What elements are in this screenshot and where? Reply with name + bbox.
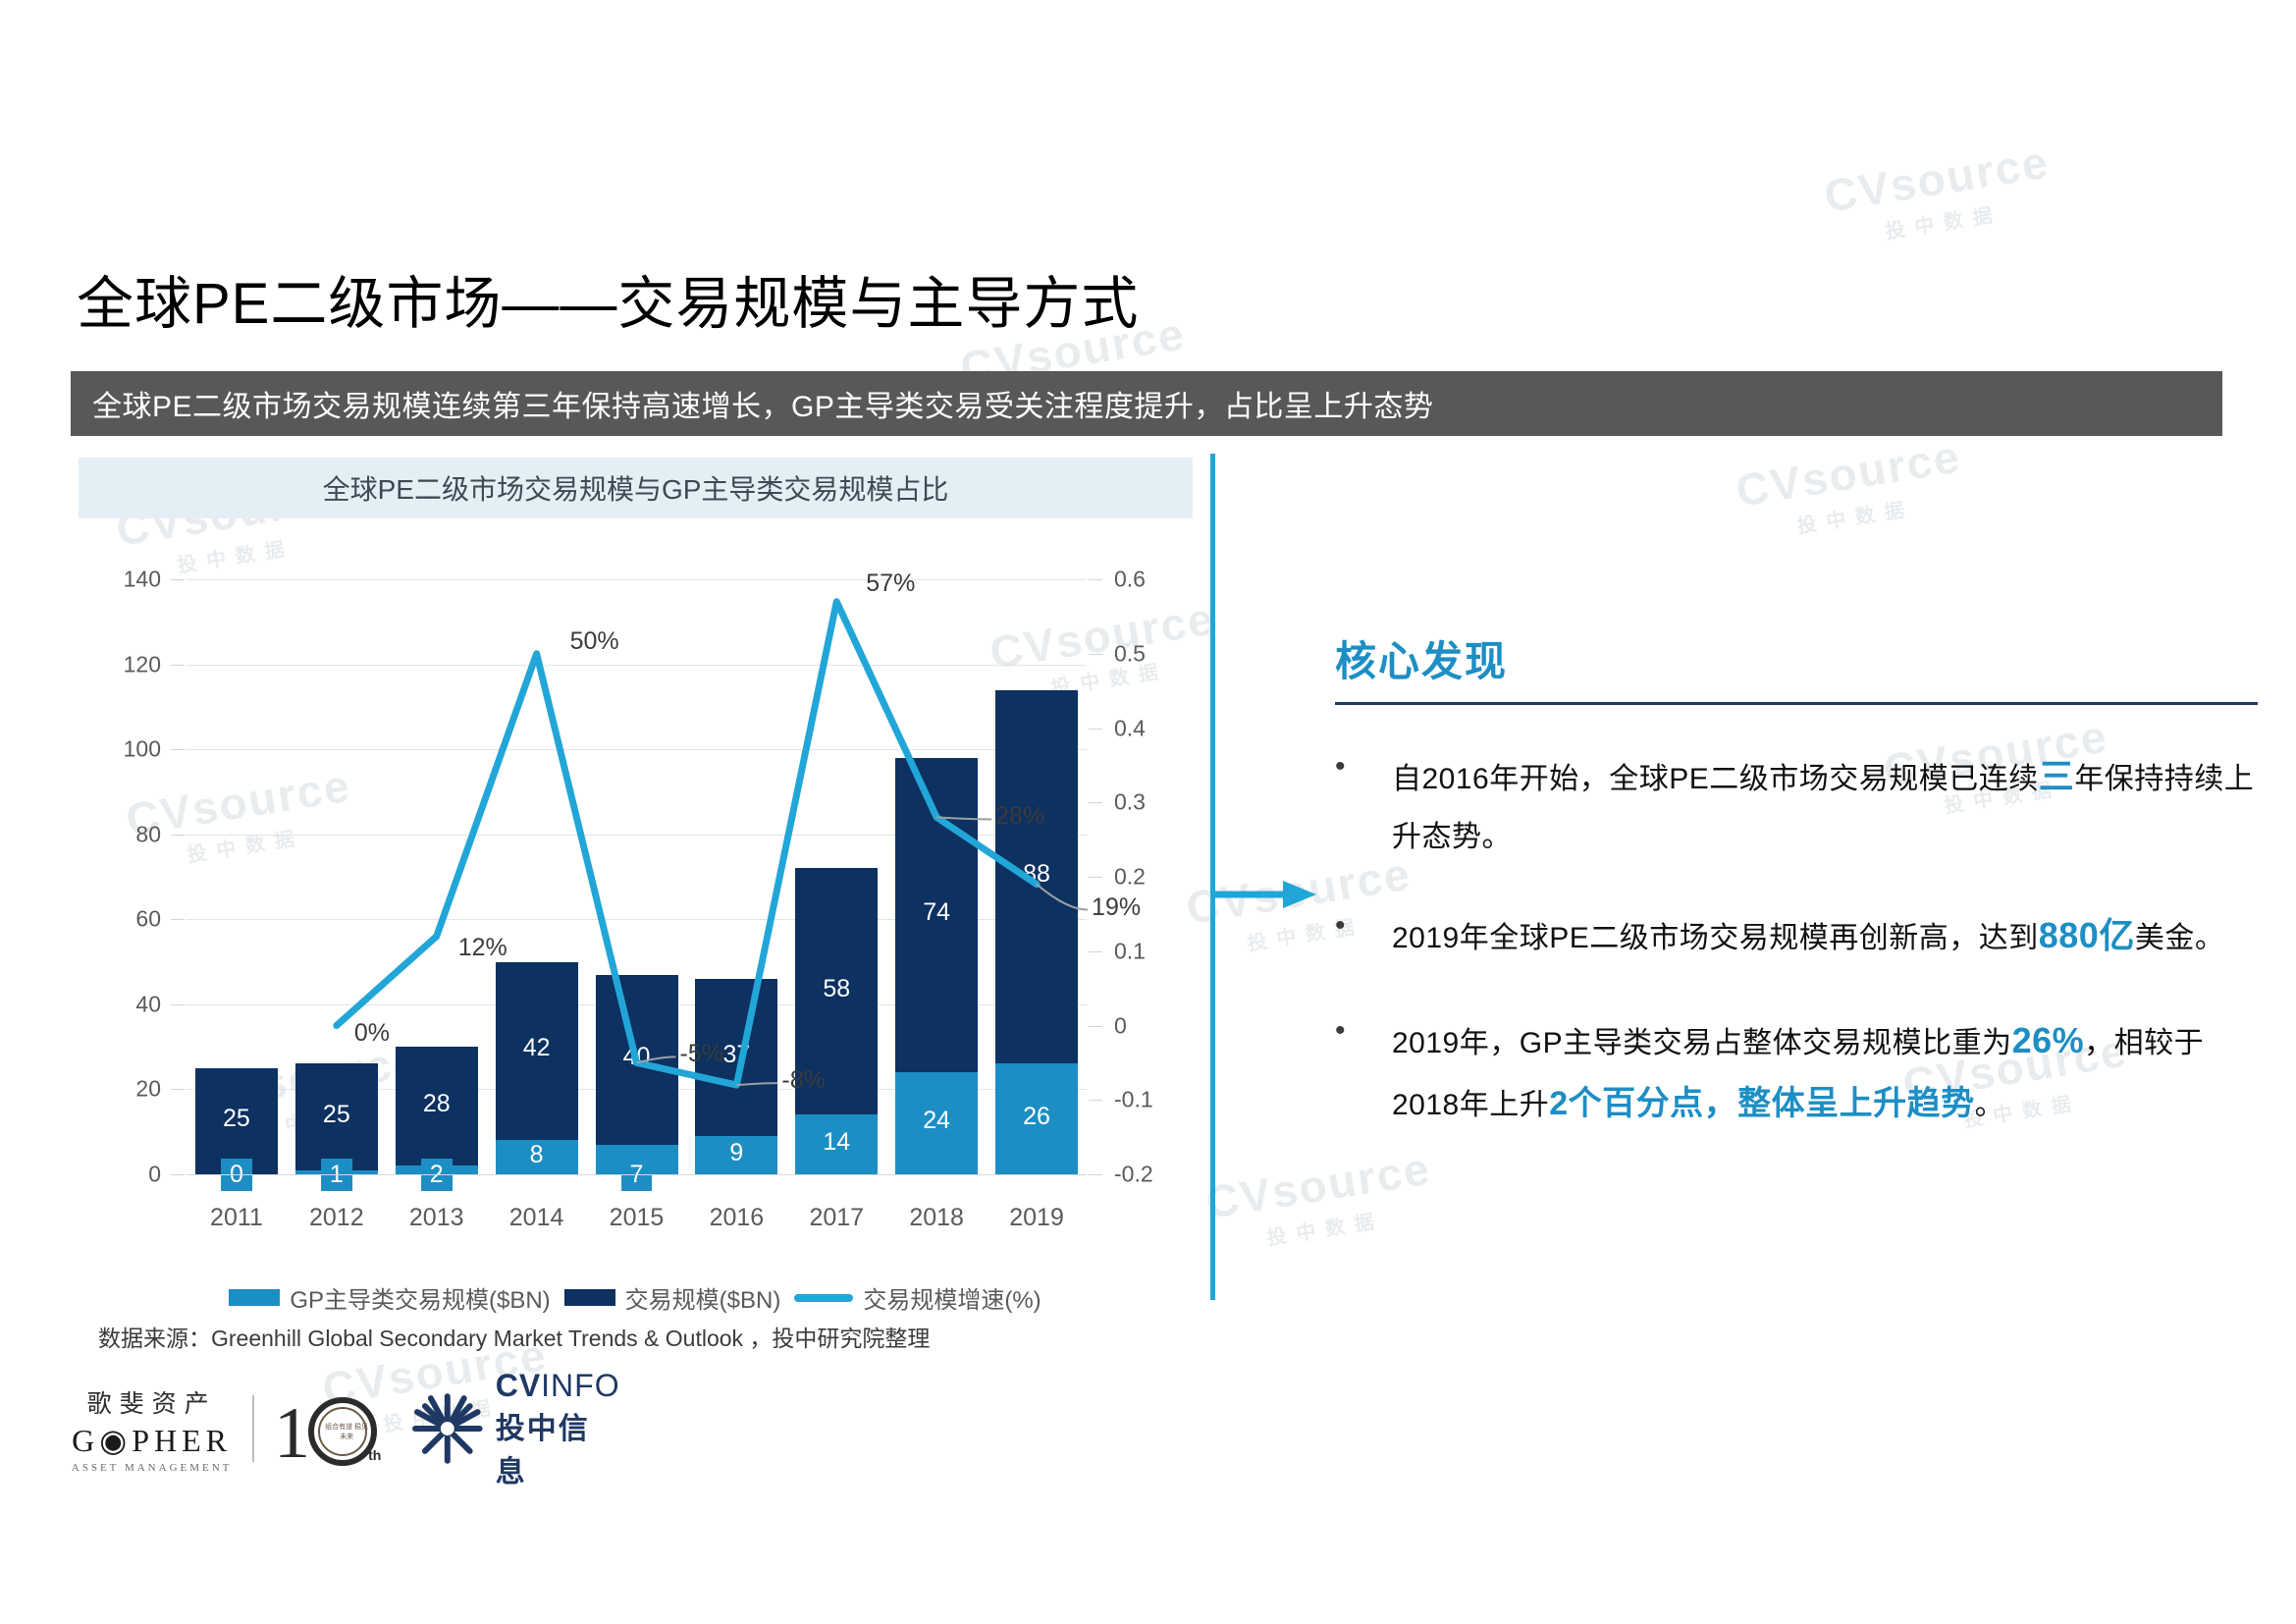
legend-line-growth-icon (794, 1294, 853, 1302)
chart-bar-value-gp: 14 (795, 1128, 878, 1157)
chart-y2tick-mark (1089, 579, 1102, 580)
key-findings-rule (1335, 702, 2258, 705)
headline-banner-text: 全球PE二级市场交易规模连续第三年保持高速增长，GP主导类交易受关注程度提升，占… (92, 382, 1433, 425)
chart-ytick-label: 80 (71, 821, 161, 847)
chart-xtick-label: 2016 (686, 1204, 786, 1232)
chart-ytick-mark (171, 665, 185, 666)
chart-line-point-label: 50% (570, 627, 619, 656)
chart-y2tick-mark (1089, 877, 1102, 878)
chart-ytick-label: 40 (71, 991, 161, 1017)
key-finding-item: •自2016年开始，全球PE二级市场交易规模已连续三年保持持续上升态势。 (1335, 744, 2258, 864)
chart-ytick-mark (171, 749, 185, 750)
chart-y2tick-label: 0.3 (1114, 789, 1212, 816)
chart-baseline (187, 1174, 1087, 1175)
chart-line-point-label: -8% (781, 1066, 825, 1095)
chart-ytick-label: 0 (71, 1162, 161, 1188)
key-findings-list: •自2016年开始，全球PE二级市场交易规模已连续三年保持持续上升态势。•201… (1335, 744, 2258, 1135)
chart-y2tick-mark (1089, 1026, 1102, 1027)
chart-bar-value-total: 74 (895, 898, 978, 927)
key-finding-item: •2019年，GP主导类交易占整体交易规模比重为26%，相较于2018年上升2个… (1335, 1008, 2258, 1135)
chart-line-point-label: -5% (680, 1040, 723, 1068)
watermark: CVsource 投中数据 (1202, 1141, 1439, 1259)
chart-legend: GP主导类交易规模($BN) 交易规模($BN) 交易规模增速(%) (71, 1280, 1200, 1315)
chart-line-point-label: 57% (866, 569, 915, 598)
chart-y2tick-label: 0.2 (1114, 864, 1212, 891)
chart-ytick-mark (171, 919, 185, 920)
chart-line-point-label: 19% (1092, 893, 1141, 922)
headline-banner: 全球PE二级市场交易规模连续第三年保持高速增长，GP主导类交易受关注程度提升，占… (71, 371, 2222, 436)
legend-swatch-gp-icon (229, 1289, 280, 1306)
cvinfo-logo-text: CVINFO 投中信息 (496, 1368, 620, 1490)
svg-text:1: 1 (274, 1393, 310, 1469)
chart-y2tick-mark (1089, 802, 1102, 803)
chart-y2tick-label: -0.1 (1114, 1087, 1212, 1113)
chart-y2tick-label: -0.2 (1114, 1162, 1212, 1188)
chart-ytick-mark (171, 835, 185, 836)
chart-y2tick-label: 0.6 (1114, 567, 1212, 593)
chart-y2tick-label: 0 (1114, 1012, 1212, 1039)
legend-swatch-total-icon (564, 1289, 615, 1306)
chart-y2tick-label: 0.1 (1114, 938, 1212, 964)
chart-bar-value-total: 42 (496, 1034, 578, 1062)
watermark: CVsource 投中数据 (1733, 429, 1969, 547)
chart-xtick-label: 2013 (387, 1204, 487, 1232)
chart-bar-value-gp: 24 (895, 1107, 978, 1135)
chart-y2tick-mark (1089, 951, 1102, 952)
gopher-logo-en: G◉PHER (71, 1422, 233, 1459)
chart-ytick-mark (171, 1004, 185, 1005)
footer-logos: 歌斐资产 G◉PHER ASSET MANAGEMENT 1 组合有道 稳见未来… (71, 1375, 620, 1483)
chart-line-point-label: 28% (995, 802, 1044, 831)
chart-xtick-label: 2018 (886, 1204, 987, 1232)
chart-ytick-label: 140 (71, 567, 161, 593)
chart-bar-value-total: 25 (295, 1101, 378, 1129)
key-finding-text: 自2016年开始，全球PE二级市场交易规模已连续三年保持持续上升态势。 (1392, 744, 2258, 864)
chart-ytick-mark (171, 1089, 185, 1090)
footer-divider (252, 1395, 254, 1462)
watermark: CVsource 投中数据 (1821, 135, 2057, 252)
anniversary-suffix: th (368, 1447, 381, 1463)
chart-bar-value-gp: 26 (995, 1103, 1078, 1131)
chart-xtick-label: 2017 (786, 1204, 886, 1232)
chart-ytick-label: 20 (71, 1076, 161, 1103)
key-findings-title: 核心发现 (1335, 628, 2258, 688)
chart-bar-value-total: 88 (995, 860, 1078, 889)
key-finding-text: 2019年，GP主导类交易占整体交易规模比重为26%，相较于2018年上升2个百… (1392, 1008, 2258, 1135)
chart-y2tick-mark (1089, 654, 1102, 655)
bullet-marker-icon: • (1335, 1008, 1392, 1135)
chart-line-point-label: 12% (458, 934, 507, 962)
chart-gridline (187, 665, 1087, 666)
anniversary-motto: 组合有道 稳见未来 (325, 1422, 368, 1441)
chart-y2tick-mark (1089, 729, 1102, 730)
bullet-marker-icon: • (1335, 744, 1392, 864)
chart-xtick-label: 2012 (287, 1204, 387, 1232)
legend-label-growth: 交易规模增速(%) (863, 1280, 1041, 1315)
chart-bar-value-total: 25 (195, 1105, 278, 1133)
chart-line-point-label: 0% (354, 1019, 390, 1048)
right-arrow-icon (1212, 877, 1320, 912)
chart-bar-column (596, 975, 678, 1174)
legend-item-growth: 交易规模增速(%) (794, 1280, 1041, 1315)
chart-y2tick-label: 0.4 (1114, 715, 1212, 741)
key-finding-item: •2019年全球PE二级市场交易规模再创新高，达到880亿美金。 (1335, 903, 2258, 969)
anniversary-logo: 1 组合有道 稳见未来 th (274, 1388, 390, 1469)
gopher-logo: 歌斐资产 G◉PHER ASSET MANAGEMENT (71, 1384, 233, 1474)
chart-gridline (187, 579, 1087, 580)
chart-plot-area: 020406080100120140-0.2-0.100.10.20.30.40… (71, 566, 1200, 1243)
legend-item-gp: GP主导类交易规模($BN) (229, 1280, 550, 1315)
chart-bar-value-total: 28 (396, 1090, 478, 1118)
legend-label-total: 交易规模($BN) (625, 1280, 781, 1315)
chart-gridline (187, 749, 1087, 750)
chart-xtick-label: 2015 (587, 1204, 687, 1232)
chart-bar-value-gp: 9 (695, 1139, 777, 1167)
cvinfo-logo-en: CVINFO (496, 1368, 620, 1404)
chart-xtick-label: 2014 (487, 1204, 587, 1232)
chart-ytick-mark (171, 1174, 185, 1175)
page-title: 全球PE二级市场——交易规模与主导方式 (77, 257, 1139, 340)
cvinfo-logo: CVINFO 投中信息 (411, 1368, 620, 1490)
legend-item-total: 交易规模($BN) (564, 1280, 781, 1315)
cvinfo-starburst-icon (411, 1392, 484, 1465)
data-source-note: 数据来源：Greenhill Global Secondary Market T… (98, 1320, 930, 1353)
chart-title-bar: 全球PE二级市场交易规模与GP主导类交易规模占比 (79, 458, 1193, 518)
chart-panel: 全球PE二级市场交易规模与GP主导类交易规模占比 020406080100120… (71, 458, 1200, 1341)
key-findings-panel: 核心发现 •自2016年开始，全球PE二级市场交易规模已连续三年保持持续上升态势… (1335, 628, 2258, 1135)
legend-label-gp: GP主导类交易规模($BN) (290, 1280, 550, 1315)
chart-title: 全球PE二级市场交易规模与GP主导类交易规模占比 (323, 468, 949, 508)
chart-bar-value-total: 58 (795, 975, 878, 1003)
chart-bar-value-gp: 8 (496, 1141, 578, 1169)
chart-ytick-label: 100 (71, 736, 161, 763)
chart-y2tick-mark (1089, 1174, 1102, 1175)
chart-ytick-label: 120 (71, 651, 161, 677)
chart-bar-value-total: 40 (596, 1043, 678, 1071)
chart-y2tick-label: 0.5 (1114, 640, 1212, 667)
chart-ytick-mark (171, 579, 185, 580)
bullet-marker-icon: • (1335, 903, 1392, 969)
chart-y2tick-mark (1089, 1100, 1102, 1101)
cvinfo-logo-cn: 投中信息 (496, 1404, 620, 1490)
chart-ytick-label: 60 (71, 906, 161, 933)
gopher-logo-sub: ASSET MANAGEMENT (71, 1462, 233, 1474)
slide-root: CVsource 投中数据 CVsource 投中数据 CVsource 投中数… (0, 0, 2296, 1624)
chart-xtick-label: 2011 (187, 1204, 287, 1232)
gopher-logo-cn: 歌斐资产 (71, 1384, 233, 1420)
key-finding-text: 2019年全球PE二级市场交易规模再创新高，达到880亿美金。 (1392, 903, 2224, 969)
chart-xtick-label: 2019 (987, 1204, 1087, 1232)
